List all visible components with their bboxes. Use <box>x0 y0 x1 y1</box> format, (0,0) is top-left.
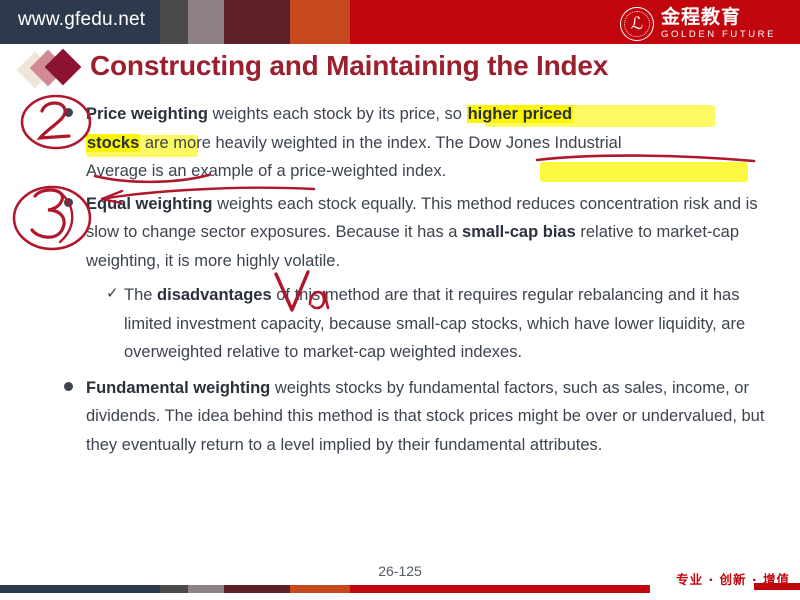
sub-bullet-disadvantages: ✓ The disadvantages of this method are t… <box>124 281 766 367</box>
bullet-1-lead: Price weighting <box>86 105 208 123</box>
footer-band-gray-dark <box>160 585 188 593</box>
bullet-1-rest: weights each stock by its price, so <box>208 105 467 123</box>
golden-future-seal-icon <box>620 7 654 41</box>
bullet-2-small-cap-bias: small-cap bias <box>462 223 576 241</box>
bullet-2-text: Equal weighting weights each stock equal… <box>86 190 766 276</box>
checkmark-icon: ✓ <box>106 280 119 309</box>
bullet-dot-icon <box>64 382 73 391</box>
bullet-dot-icon <box>64 198 73 207</box>
page-title: Constructing and Maintaining the Index <box>90 50 608 82</box>
bullet-2-lead: Equal weighting <box>86 195 213 213</box>
bullet-1-highlight-stocks: stocks <box>86 134 140 152</box>
bullet-1-highlight-higher-priced: higher priced <box>467 105 574 123</box>
footer-band-red <box>350 585 650 593</box>
bullet-3-text: Fundamental weighting weights stocks by … <box>86 374 766 460</box>
bullet-equal-weighting: Equal weighting weights each stock equal… <box>86 190 766 367</box>
seal-ring-decoration <box>624 11 650 37</box>
brand-name-cn: 金程教育 <box>661 8 776 27</box>
footer-band-maroon <box>224 585 290 593</box>
footer-band-orange <box>290 585 350 593</box>
sub-bullet-pre: The <box>124 286 157 304</box>
footer-band-red-tail <box>754 583 800 590</box>
bullet-1-dow-jones: Dow Jones Industrial <box>468 134 621 152</box>
footer-band-navy <box>0 585 160 593</box>
bullet-1-line3: Average is an example of a price-weighte… <box>86 162 446 180</box>
bullet-3-lead: Fundamental weighting <box>86 379 270 397</box>
sub-bullet-text: The disadvantages of this method are tha… <box>124 281 766 367</box>
header-band-maroon <box>224 0 290 44</box>
slide-header-bar: www.gfedu.net 金程教育 GOLDEN FUTURE <box>0 0 800 44</box>
bullet-fundamental-weighting: Fundamental weighting weights stocks by … <box>86 374 766 460</box>
brand-logo: 金程教育 GOLDEN FUTURE <box>620 2 792 46</box>
bullet-dot-icon <box>64 108 73 117</box>
diamond-bullet-icon <box>22 53 84 87</box>
bullet-1-text: Price weighting weights each stock by it… <box>86 100 766 186</box>
sub-bullet-bold: disadvantages <box>157 286 272 304</box>
bullet-1-line2-rest: are more heavily weighted in the index. … <box>140 134 468 152</box>
brand-wordmark: 金程教育 GOLDEN FUTURE <box>661 8 776 40</box>
header-band-orange <box>290 0 350 44</box>
brand-name-en: GOLDEN FUTURE <box>661 30 776 40</box>
bullet-price-weighting: Price weighting weights each stock by it… <box>86 100 766 186</box>
slide-body: Price weighting weights each stock by it… <box>86 100 766 461</box>
site-url: www.gfedu.net <box>18 9 145 31</box>
header-band-mauve <box>188 0 224 44</box>
header-band-gray-dark <box>160 0 188 44</box>
footer-band-mauve <box>188 585 224 593</box>
title-row: Constructing and Maintaining the Index <box>22 50 782 92</box>
